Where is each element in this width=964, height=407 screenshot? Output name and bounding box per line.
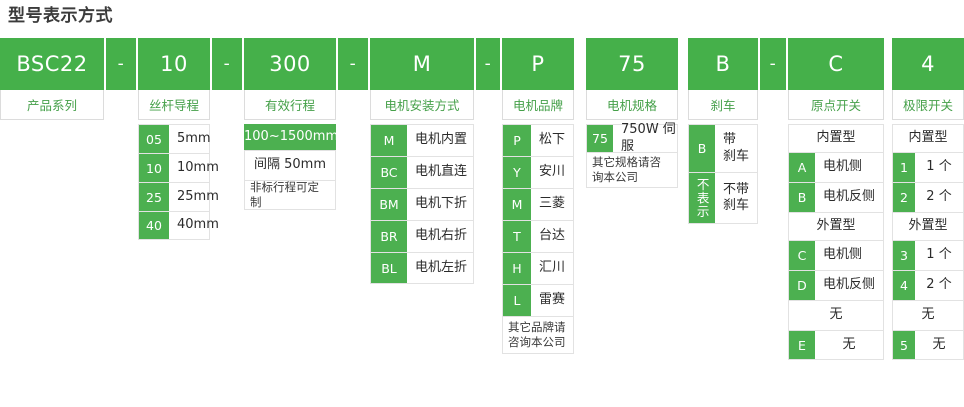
option-code: L (503, 285, 531, 316)
option-code: BM (371, 189, 407, 220)
label-cell-motor-brand: 电机品牌 (502, 90, 574, 120)
option-value: 台达 (531, 221, 573, 252)
option-row: 内置型 (892, 124, 964, 152)
column-separator-1: - (106, 38, 136, 120)
option-value: 汇川 (531, 253, 573, 284)
option-row: 无 (788, 300, 884, 330)
option-value-line: 不带 (723, 182, 749, 198)
option-row: 11 个 (892, 152, 964, 182)
option-group-header: 内置型 (893, 125, 963, 152)
label-cell-effective-stroke: 有效行程 (244, 90, 336, 120)
option-group-header: 间隔 50mm (245, 151, 335, 180)
option-code: 不表示 (689, 173, 715, 223)
option-code: D (789, 271, 815, 300)
option-row: 31 个 (892, 240, 964, 270)
code-cell-separator-7: - (760, 38, 786, 90)
column-separator-6 (680, 38, 686, 120)
label-cell-separator-1 (106, 90, 136, 120)
code-cell-product-series: BSC22 (0, 38, 104, 90)
option-row: H汇川 (502, 252, 574, 284)
option-value: 安川 (531, 157, 573, 188)
options-brake: B带刹车不表示不带刹车 (688, 124, 758, 224)
option-value: 40mm (169, 212, 219, 239)
option-value: 电机反侧 (815, 271, 883, 300)
option-row: BM电机下折 (370, 188, 474, 220)
column-separator-3: - (338, 38, 368, 120)
code-cell-brake: B (688, 38, 758, 90)
option-row: 1010mm (138, 153, 210, 182)
option-row: L雷赛 (502, 284, 574, 316)
options-motor-mounting: M电机内置BC电机直连BM电机下折BR电机右折BL电机左折 (370, 124, 474, 284)
option-row: 外置型 (892, 212, 964, 240)
option-value: 电机侧 (815, 241, 883, 270)
option-row: 无 (892, 300, 964, 330)
code-cell-separator-4: - (476, 38, 500, 90)
option-row: M三菱 (502, 188, 574, 220)
code-cell-limit-switch: 4 (892, 38, 964, 90)
option-value: 无 (815, 331, 883, 359)
option-row: Y安川 (502, 156, 574, 188)
option-row: BR电机右折 (370, 220, 474, 252)
code-cell-motor-mounting: M (370, 38, 474, 90)
option-row: 其它品牌请咨询本公司 (502, 316, 574, 354)
option-code: BR (371, 221, 407, 252)
option-value: 无 (915, 331, 963, 359)
option-note: 非标行程可定制 (245, 181, 335, 209)
option-code: B (789, 183, 815, 212)
option-group-header: 内置型 (789, 125, 883, 152)
options-motor-brand: P松下Y安川M三菱T台达H汇川L雷赛其它品牌请咨询本公司 (502, 124, 574, 354)
option-group-header: 无 (789, 301, 883, 330)
options-effective-stroke: 100~1500mm间隔 50mm非标行程可定制 (244, 124, 336, 210)
column-motor-mounting: M电机安装方式M电机内置BC电机直连BM电机下折BR电机右折BL电机左折 (370, 38, 474, 284)
option-row: 4040mm (138, 211, 210, 240)
option-value: 25mm (169, 183, 219, 211)
column-product-series: BSC22产品系列 (0, 38, 104, 120)
code-cell-separator-3: - (338, 38, 368, 90)
option-value: 雷赛 (531, 285, 573, 316)
option-row: 内置型 (788, 124, 884, 152)
option-value-line: 刹车 (723, 149, 749, 165)
option-row: 不表示不带刹车 (688, 172, 758, 224)
option-row: 间隔 50mm (244, 150, 336, 180)
code-cell-origin-switch: C (788, 38, 884, 90)
column-effective-stroke: 300有效行程100~1500mm间隔 50mm非标行程可定制 (244, 38, 336, 210)
option-code: T (503, 221, 531, 252)
column-motor-brand: P电机品牌P松下Y安川M三菱T台达H汇川L雷赛其它品牌请咨询本公司 (502, 38, 574, 354)
column-separator-5 (576, 38, 584, 120)
option-row: BL电机左折 (370, 252, 474, 284)
option-code: 40 (139, 212, 169, 239)
option-row: 22 个 (892, 182, 964, 212)
option-row: T台达 (502, 220, 574, 252)
option-code: H (503, 253, 531, 284)
option-code: 05 (139, 125, 169, 153)
option-value-line: 刹车 (723, 198, 749, 214)
option-value: 5mm (169, 125, 211, 153)
option-row: 2525mm (138, 182, 210, 211)
option-code: 75 (587, 125, 613, 152)
option-code: 2 (893, 183, 915, 212)
label-cell-motor-mounting: 电机安装方式 (370, 90, 474, 120)
label-cell-motor-spec: 电机规格 (586, 90, 678, 120)
option-value: 电机侧 (815, 153, 883, 182)
code-cell-separator-2: - (212, 38, 242, 90)
option-note: 其它规格请咨询本公司 (587, 153, 677, 187)
option-row: 5无 (892, 330, 964, 360)
label-cell-separator-5 (576, 90, 584, 120)
option-value: 电机左折 (407, 253, 473, 283)
options-screw-lead: 055mm1010mm2525mm4040mm (138, 124, 210, 240)
option-row: 100~1500mm (244, 124, 336, 150)
option-group-header: 无 (893, 301, 963, 330)
option-value: 电机直连 (407, 157, 473, 188)
option-value: 750W 伺服 (613, 125, 677, 152)
option-code: Y (503, 157, 531, 188)
column-brake: B刹车B带刹车不表示不带刹车 (688, 38, 758, 224)
option-row: P松下 (502, 124, 574, 156)
code-cell-separator-1: - (106, 38, 136, 90)
option-code: BC (371, 157, 407, 188)
option-note: 其它品牌请咨询本公司 (503, 317, 573, 353)
option-row: M电机内置 (370, 124, 474, 156)
option-code: 5 (893, 331, 915, 359)
option-row: 其它规格请咨询本公司 (586, 152, 678, 188)
option-code: 10 (139, 154, 169, 182)
column-separator-2: - (212, 38, 242, 120)
option-code: 25 (139, 183, 169, 211)
code-cell-motor-spec: 75 (586, 38, 678, 90)
option-value: 1 个 (915, 241, 963, 270)
option-row: A电机侧 (788, 152, 884, 182)
label-cell-product-series: 产品系列 (0, 90, 104, 120)
option-row: C电机侧 (788, 240, 884, 270)
column-separator-4: - (476, 38, 500, 120)
option-code: B (689, 125, 715, 172)
option-group-header: 外置型 (893, 213, 963, 240)
column-motor-spec: 75电机规格75750W 伺服其它规格请咨询本公司 (586, 38, 678, 188)
option-row: 外置型 (788, 212, 884, 240)
option-value: 1 个 (915, 153, 963, 182)
label-cell-separator-4 (476, 90, 500, 120)
option-group-header: 外置型 (789, 213, 883, 240)
column-limit-switch: 4极限开关内置型11 个22 个外置型31 个42 个无5无 (892, 38, 964, 360)
options-motor-spec: 75750W 伺服其它规格请咨询本公司 (586, 124, 678, 188)
page-title: 型号表示方式 (8, 2, 113, 30)
option-code: 3 (893, 241, 915, 270)
option-value: 10mm (169, 154, 219, 182)
option-value: 电机下折 (407, 189, 473, 220)
options-limit-switch: 内置型11 个22 个外置型31 个42 个无5无 (892, 124, 964, 360)
option-code: P (503, 125, 531, 156)
model-designation-figure: 型号表示方式 BSC22产品系列-10丝杆导程055mm1010mm2525mm… (0, 0, 964, 407)
option-row: B电机反侧 (788, 182, 884, 212)
option-row: 非标行程可定制 (244, 180, 336, 210)
option-value: 松下 (531, 125, 573, 156)
label-cell-separator-3 (338, 90, 368, 120)
option-value: 电机反侧 (815, 183, 883, 212)
option-value-line: 带 (723, 132, 736, 148)
option-value: 电机内置 (407, 125, 473, 156)
column-separator-7: - (760, 38, 786, 120)
option-value: 不带刹车 (715, 173, 757, 223)
option-row: BC电机直连 (370, 156, 474, 188)
label-cell-separator-6 (680, 90, 686, 120)
option-code: E (789, 331, 815, 359)
option-code: BL (371, 253, 407, 283)
code-cell-screw-lead: 10 (138, 38, 210, 90)
option-value: 2 个 (915, 183, 963, 212)
option-value: 三菱 (531, 189, 573, 220)
option-code: 1 (893, 153, 915, 182)
option-row: B带刹车 (688, 124, 758, 172)
option-code: M (503, 189, 531, 220)
label-cell-origin-switch: 原点开关 (788, 90, 884, 120)
option-code: M (371, 125, 407, 156)
option-code: A (789, 153, 815, 182)
option-value: 2 个 (915, 271, 963, 300)
column-screw-lead: 10丝杆导程055mm1010mm2525mm4040mm (138, 38, 210, 240)
code-cell-effective-stroke: 300 (244, 38, 336, 90)
option-row: 055mm (138, 124, 210, 153)
option-value: 电机右折 (407, 221, 473, 252)
label-cell-screw-lead: 丝杆导程 (138, 90, 210, 120)
label-cell-separator-7 (760, 90, 786, 120)
code-cell-motor-brand: P (502, 38, 574, 90)
option-code: C (789, 241, 815, 270)
label-cell-brake: 刹车 (688, 90, 758, 120)
option-row: D电机反侧 (788, 270, 884, 300)
label-cell-limit-switch: 极限开关 (892, 90, 964, 120)
option-row: 42 个 (892, 270, 964, 300)
range-banner: 100~1500mm (244, 124, 338, 150)
option-row: 75750W 伺服 (586, 124, 678, 152)
option-row: E无 (788, 330, 884, 360)
column-origin-switch: C原点开关内置型A电机侧B电机反侧外置型C电机侧D电机反侧无E无 (788, 38, 884, 360)
option-code: 4 (893, 271, 915, 300)
label-cell-separator-2 (212, 90, 242, 120)
options-origin-switch: 内置型A电机侧B电机反侧外置型C电机侧D电机反侧无E无 (788, 124, 884, 360)
option-value: 带刹车 (715, 125, 757, 172)
